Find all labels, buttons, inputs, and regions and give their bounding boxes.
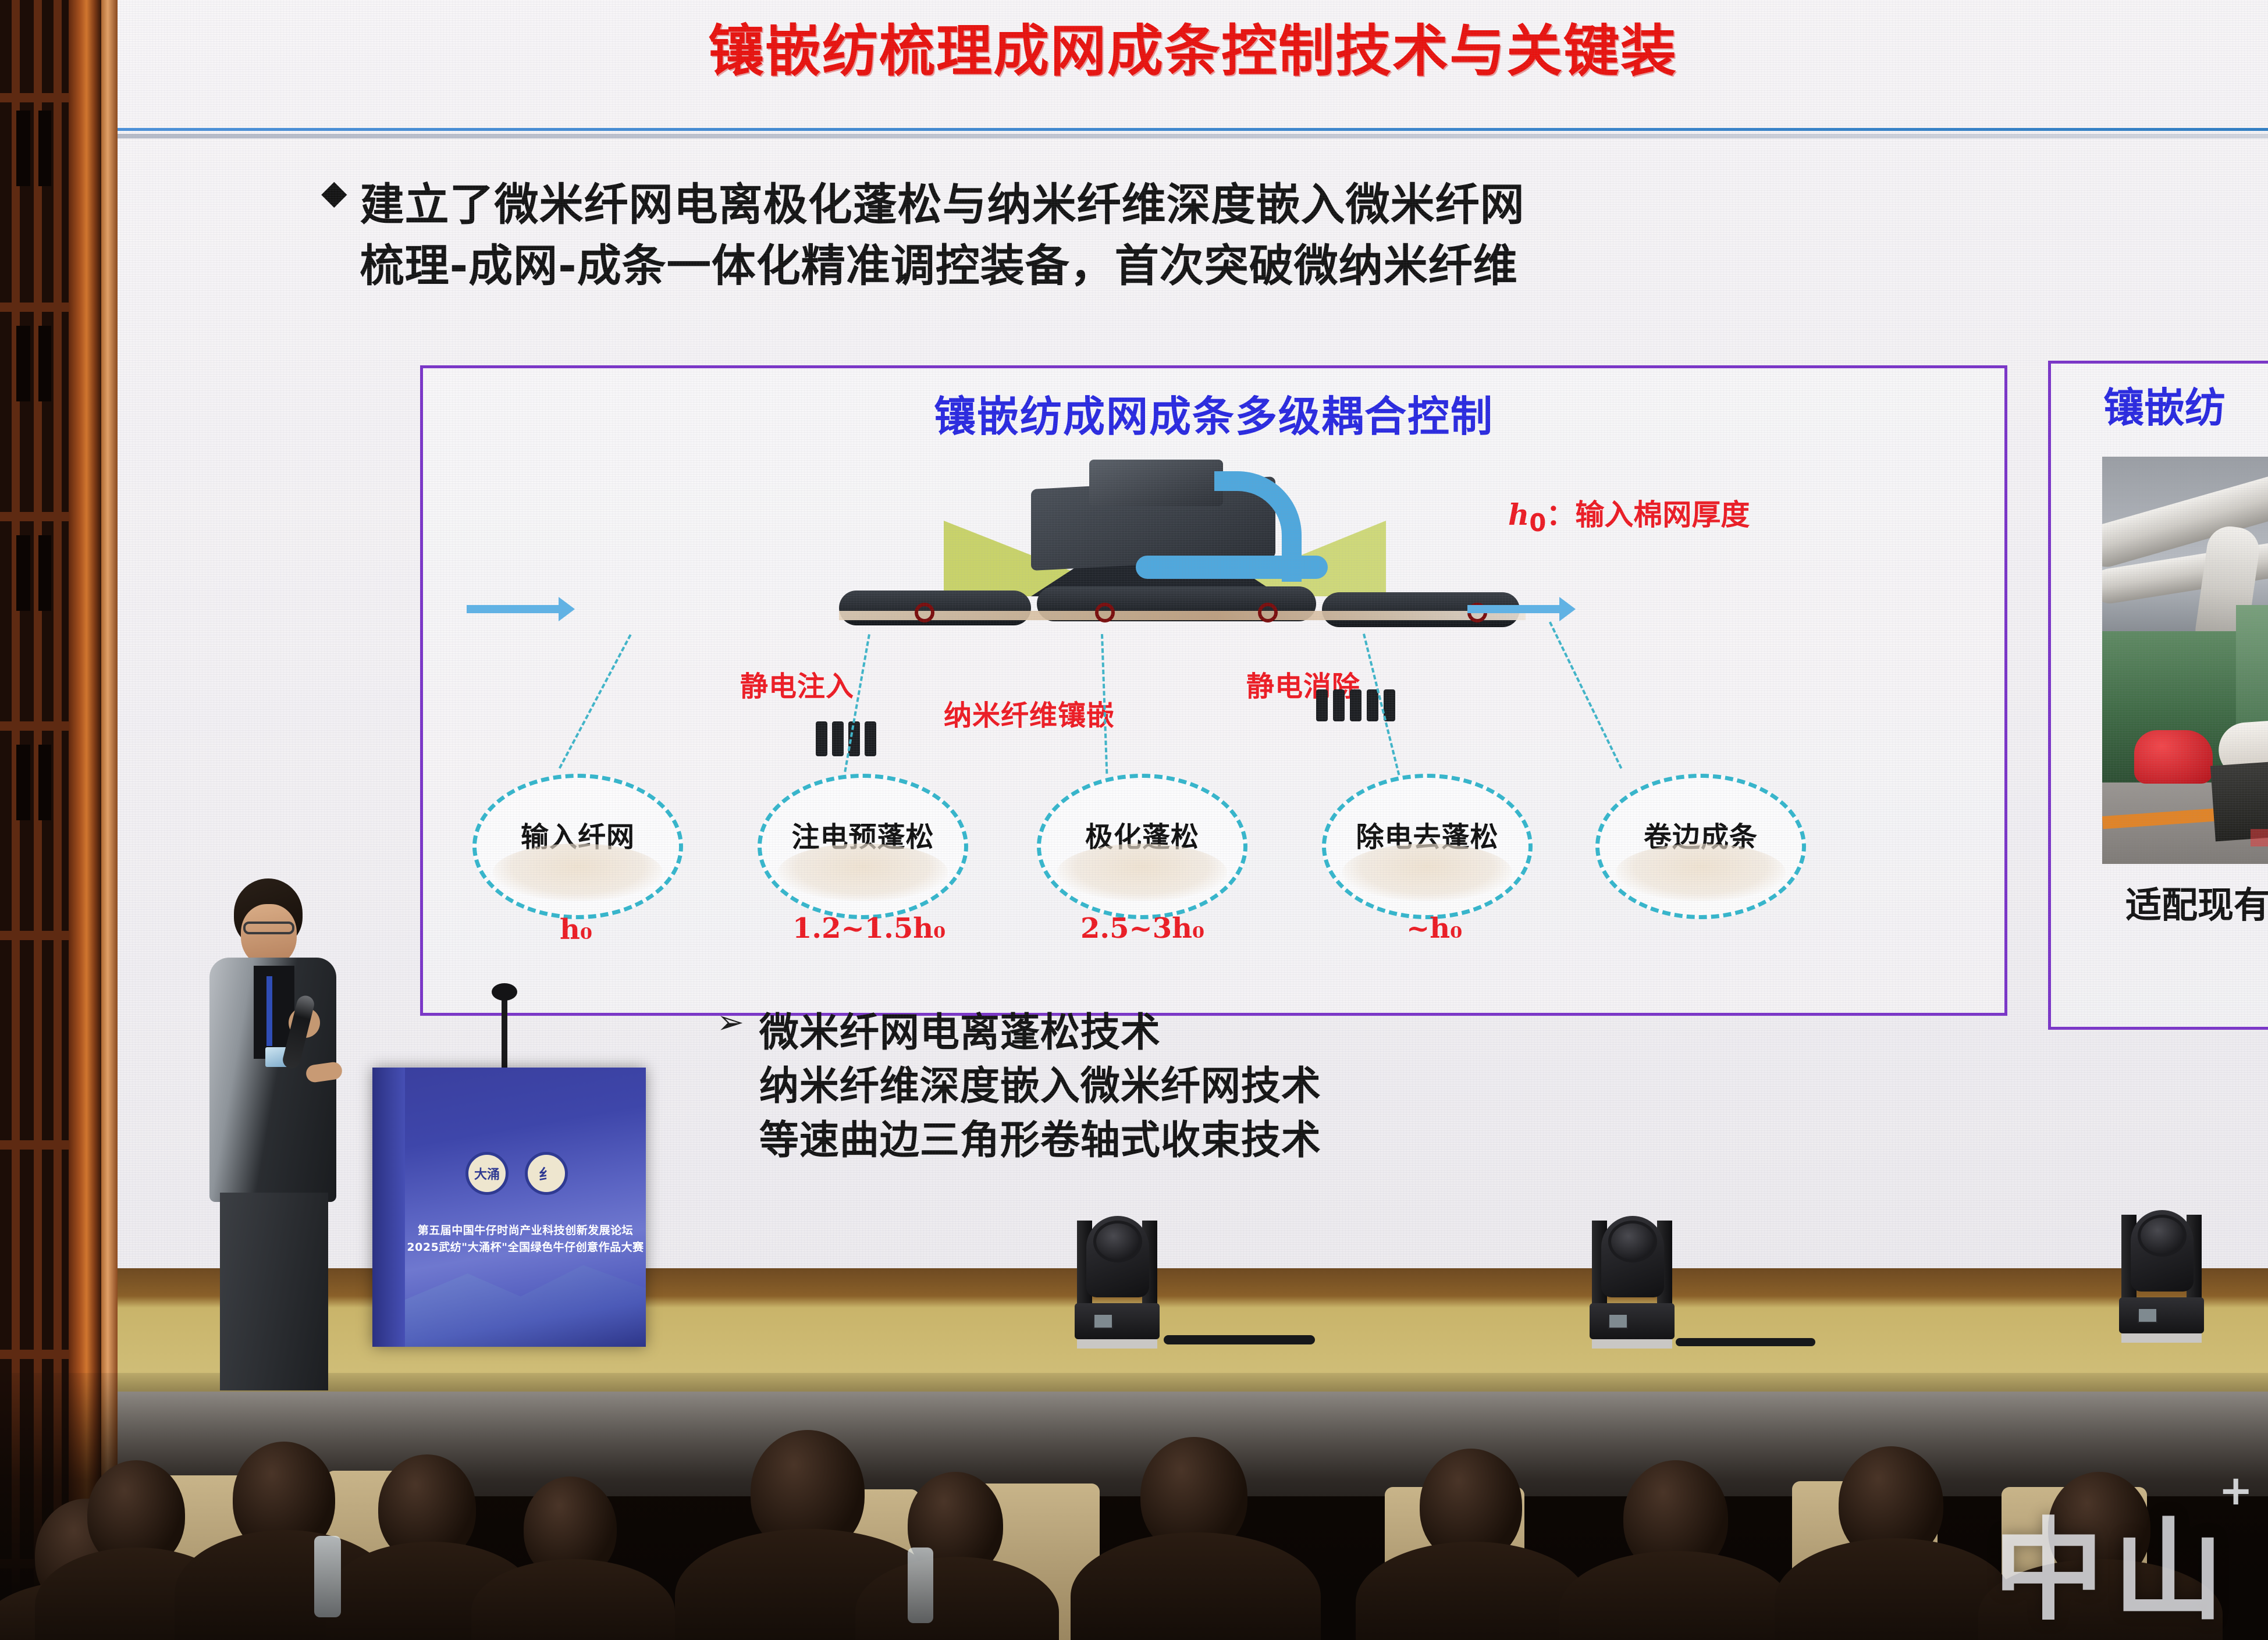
logo-dayong: 大涌 — [465, 1152, 509, 1195]
moving-head-light-1 — [1073, 1216, 1161, 1350]
podium: 大涌 纟 第五届中国牛仔时尚产业科技创新发展论坛 2025武纺"大涌杯"全国绿色… — [372, 1068, 646, 1347]
logo-wuhan-textile: 纟 — [525, 1152, 568, 1195]
podium-line-1: 第五届中国牛仔时尚产业科技创新发展论坛 — [405, 1222, 646, 1237]
badge-lanyard — [266, 976, 272, 1046]
water-bottle — [314, 1536, 341, 1617]
speaker-trousers — [220, 1193, 328, 1390]
mic-stand-head — [492, 983, 517, 1001]
podium-side — [372, 1068, 405, 1347]
glasses-icon — [243, 922, 294, 934]
speaker-presenter — [192, 878, 367, 1390]
stage-cable-1 — [1164, 1335, 1315, 1344]
moving-head-light-3 — [2118, 1210, 2205, 1344]
stage-cable-2 — [1676, 1338, 1815, 1346]
moving-head-light-2 — [1588, 1216, 1676, 1350]
water-bottle-2 — [908, 1547, 933, 1623]
podium-line-2: 2025武纺"大涌杯"全国绿色牛仔创意作品大赛 — [405, 1239, 646, 1254]
podium-mountain-art — [405, 1242, 646, 1347]
audience-area — [0, 1373, 2268, 1640]
audience-shoulders-8 — [1071, 1532, 1321, 1640]
watermark-mark-icon: + — [2219, 1467, 2253, 1514]
watermark-text: 中山 — [1993, 1516, 2233, 1626]
audience-shoulders-10 — [1559, 1551, 1792, 1640]
speaker-face — [241, 904, 297, 966]
conference-photo: 镶嵌纺梳理成网成条控制技术与关键装 ◆ 建立了微米纤网电离极化蓬松与纳米纤维深度… — [0, 0, 2268, 1640]
